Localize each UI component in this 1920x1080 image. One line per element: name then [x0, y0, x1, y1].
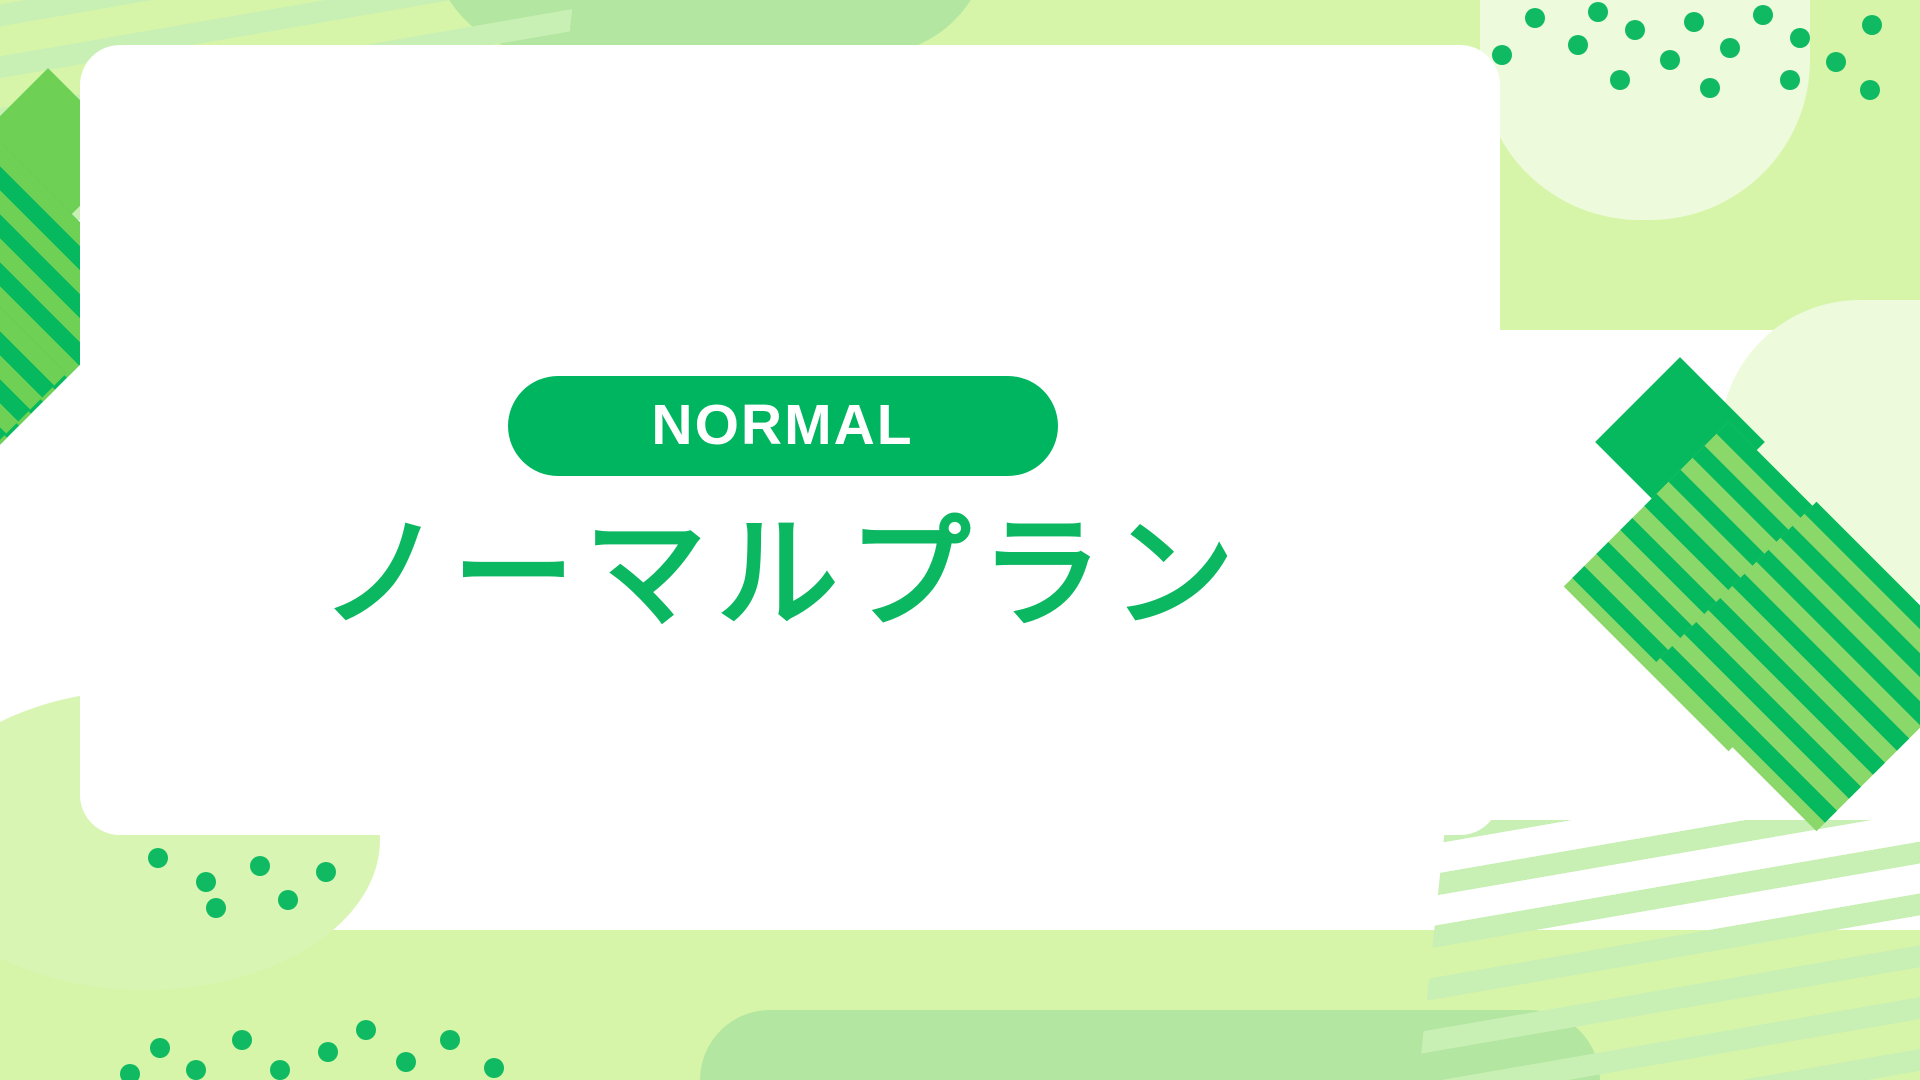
plan-title: ノーマルプラン	[321, 504, 1245, 644]
decorative-dot	[356, 1020, 376, 1040]
decorative-dot	[318, 1042, 338, 1062]
decorative-dot	[270, 1060, 290, 1080]
decorative-dot	[250, 856, 270, 876]
decorative-dot	[186, 1060, 206, 1080]
decorative-dot	[196, 872, 216, 892]
decorative-dot	[148, 848, 168, 868]
decorative-dot	[484, 1058, 504, 1078]
plan-badge[interactable]: NORMAL	[508, 376, 1058, 476]
decorative-dot	[150, 1038, 170, 1058]
decorative-dot	[396, 1052, 416, 1072]
decorative-dot	[206, 898, 226, 918]
decorative-dot	[232, 1030, 252, 1050]
decorative-dot	[278, 890, 298, 910]
decorative-dot	[316, 862, 336, 882]
plan-badge-label: NORMAL	[651, 397, 913, 454]
slide-canvas: NORMAL ノーマルプラン	[0, 0, 1920, 1080]
decorative-dot	[120, 1064, 140, 1080]
decorative-dot	[440, 1030, 460, 1050]
